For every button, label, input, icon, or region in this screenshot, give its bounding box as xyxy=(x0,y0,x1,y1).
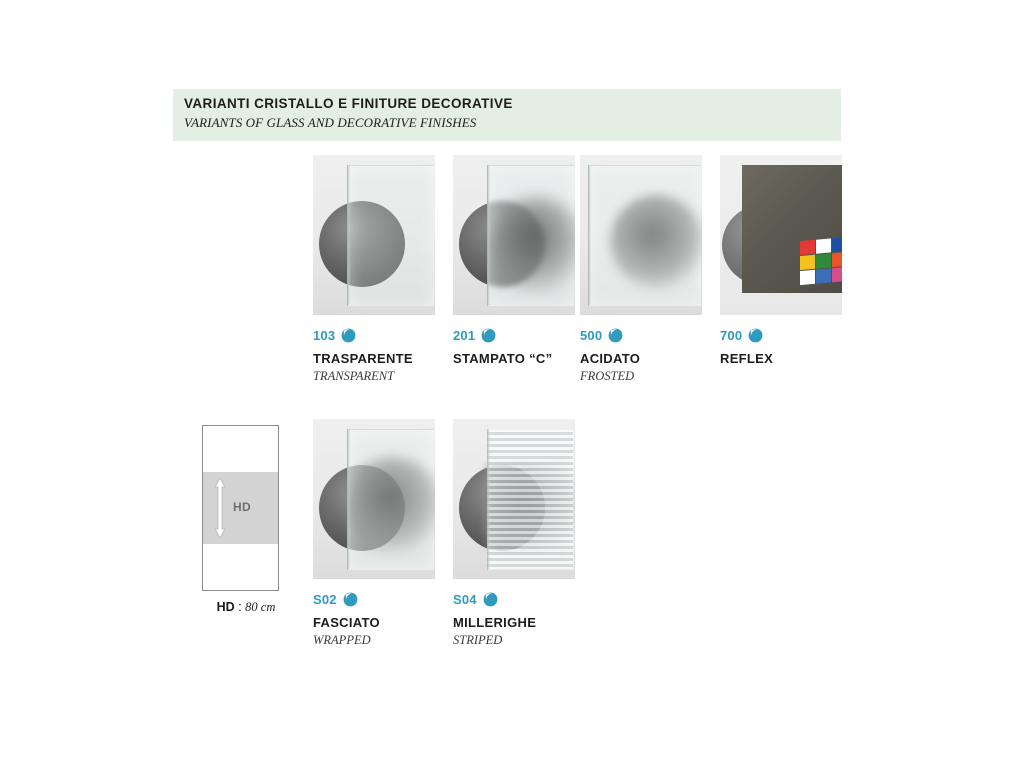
hd-caption: HD : 80 cm xyxy=(196,600,296,615)
sample-code: 103 xyxy=(313,328,335,343)
sample-name-italian: FASCIATO xyxy=(313,615,435,630)
glass-edge xyxy=(487,429,490,569)
sample-image-trasparente xyxy=(313,155,435,315)
hd-diagram: HD xyxy=(202,425,279,591)
sample-image-acidato xyxy=(580,155,702,315)
hd-caption-separator: : xyxy=(235,600,245,614)
sample-name-italian: STAMPATO “C” xyxy=(453,351,575,366)
frosted-sphere-shape xyxy=(610,195,702,289)
sample-card-stampato[interactable]: 201 STAMPATO “C” xyxy=(453,155,575,369)
sample-code-row: S02 xyxy=(313,591,435,607)
hd-caption-value: 80 cm xyxy=(245,600,275,614)
sample-card-reflex[interactable]: 700 REFLEX xyxy=(720,155,842,369)
sample-name-english: TRANSPARENT xyxy=(313,369,435,384)
sample-code: S02 xyxy=(313,592,337,607)
sample-name-italian: REFLEX xyxy=(720,351,842,366)
sample-code-row: 700 xyxy=(720,327,842,343)
sample-name-italian: MILLERIGHE xyxy=(453,615,575,630)
glass-edge xyxy=(347,429,350,569)
glass-blob-icon xyxy=(748,328,763,343)
sample-card-acidato[interactable]: 500 ACIDATO FROSTED xyxy=(580,155,702,384)
sample-code: S04 xyxy=(453,592,477,607)
glass-blob-icon xyxy=(341,328,356,343)
glass-blob-icon xyxy=(343,592,358,607)
hd-caption-key: HD xyxy=(217,600,235,614)
sample-name-italian: TRASPARENTE xyxy=(313,351,435,366)
sample-image-reflex xyxy=(720,155,842,315)
glass-edge xyxy=(487,165,490,305)
sample-image-stampato xyxy=(453,155,575,315)
sample-card-fasciato[interactable]: S02 FASCIATO WRAPPED xyxy=(313,419,435,648)
sample-code-row: 201 xyxy=(453,327,575,343)
section-header-band: VARIANTI CRISTALLO E FINITURE DECORATIVE… xyxy=(173,89,841,141)
sample-code: 500 xyxy=(580,328,602,343)
sample-name-italian: ACIDATO xyxy=(580,351,702,366)
sample-code-row: 500 xyxy=(580,327,702,343)
glass-pane xyxy=(347,165,434,306)
glass-blob-icon xyxy=(483,592,498,607)
sample-card-trasparente[interactable]: 103 TRASPARENTE TRANSPARENT xyxy=(313,155,435,384)
sample-code: 201 xyxy=(453,328,475,343)
page-title-italian: VARIANTI CRISTALLO E FINITURE DECORATIVE xyxy=(184,96,513,111)
blurred-sphere-shape xyxy=(489,197,575,293)
color-swatch-grid xyxy=(800,237,842,287)
glass-edge xyxy=(347,165,350,305)
sample-image-fasciato xyxy=(313,419,435,579)
sample-card-millerighe[interactable]: S04 MILLERIGHE STRIPED xyxy=(453,419,575,648)
sample-name-english: FROSTED xyxy=(580,369,702,384)
hd-inner-label: HD xyxy=(233,500,251,514)
wrapped-sphere-shape xyxy=(345,457,435,553)
stripe-pattern xyxy=(487,429,573,569)
glass-blob-icon xyxy=(481,328,496,343)
sample-code-row: S04 xyxy=(453,591,575,607)
sample-code: 700 xyxy=(720,328,742,343)
sample-image-millerighe xyxy=(453,419,575,579)
hd-arrow xyxy=(213,478,227,538)
glass-blob-icon xyxy=(608,328,623,343)
page-root: VARIANTI CRISTALLO E FINITURE DECORATIVE… xyxy=(0,0,1024,768)
sample-name-english: WRAPPED xyxy=(313,633,435,648)
sample-code-row: 103 xyxy=(313,327,435,343)
page-title-english: VARIANTS OF GLASS AND DECORATIVE FINISHE… xyxy=(184,115,476,131)
sample-name-english: STRIPED xyxy=(453,633,575,648)
glass-edge xyxy=(588,165,591,305)
